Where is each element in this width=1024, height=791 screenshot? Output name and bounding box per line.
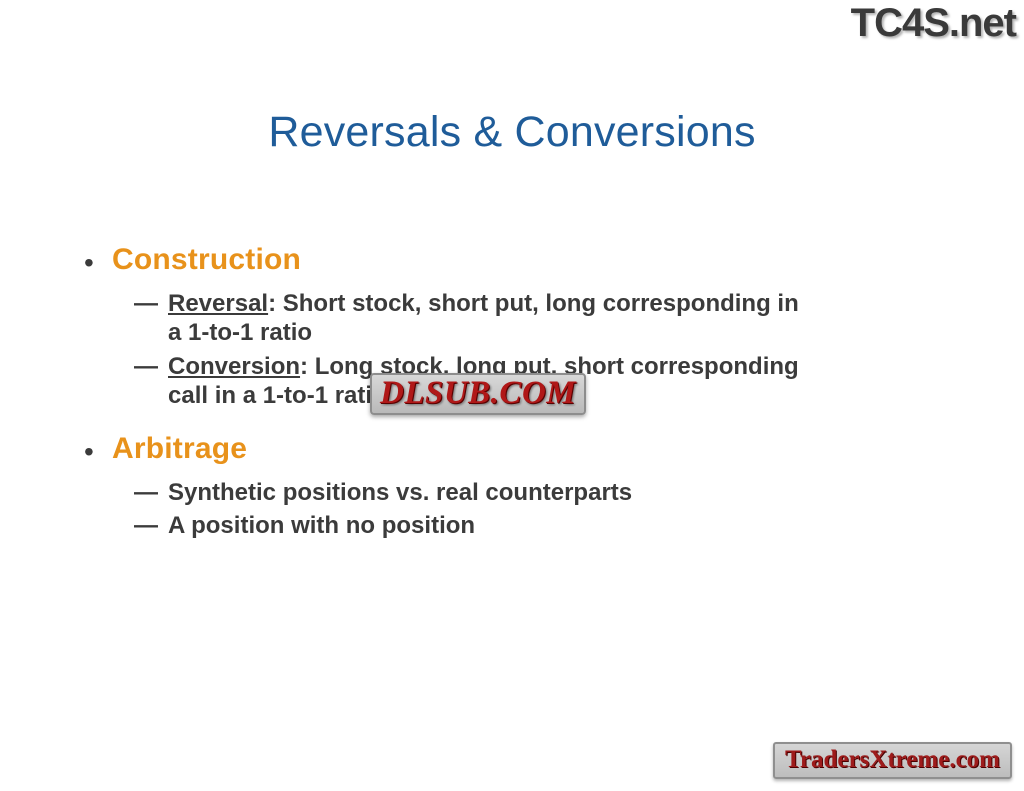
- dash-glyph-icon: —: [134, 478, 168, 507]
- list-item-body: Synthetic positions vs. real counterpart…: [168, 478, 632, 507]
- brand-watermark-bottom: TradersXtreme.com: [773, 742, 1012, 780]
- list-item-text: Reversal: Short stock, short put, long c…: [168, 289, 808, 348]
- list-item-separator: :: [268, 290, 283, 317]
- page-title: Reversals & Conversions: [0, 108, 1024, 157]
- brand-watermark-top: TC4S.net: [851, 2, 1016, 44]
- spacer: [84, 468, 964, 478]
- list-item-separator: :: [300, 353, 315, 380]
- section-heading-construction: • Construction: [84, 243, 964, 277]
- watermark-center: DLSUB.COM: [370, 373, 586, 415]
- section-heading-label: Arbitrage: [112, 432, 247, 466]
- list-item-label: Conversion: [168, 353, 300, 380]
- list-item-body: A position with no position: [168, 511, 475, 540]
- spacer: [84, 414, 964, 432]
- spacer: [84, 279, 964, 289]
- dash-glyph-icon: —: [134, 289, 168, 318]
- list-item: — A position with no position: [134, 511, 964, 540]
- section-heading-arbitrage: • Arbitrage: [84, 432, 964, 466]
- list-item: — Reversal: Short stock, short put, long…: [134, 289, 964, 348]
- slide: TC4S.net Reversals & Conversions • Const…: [0, 0, 1024, 791]
- list-item-label: Reversal: [168, 290, 268, 317]
- bullet-glyph-icon: •: [84, 432, 112, 466]
- dash-glyph-icon: —: [134, 352, 168, 381]
- dash-glyph-icon: —: [134, 511, 168, 540]
- section-heading-label: Construction: [112, 243, 301, 277]
- bullet-glyph-icon: •: [84, 243, 112, 277]
- list-item: — Synthetic positions vs. real counterpa…: [134, 478, 964, 507]
